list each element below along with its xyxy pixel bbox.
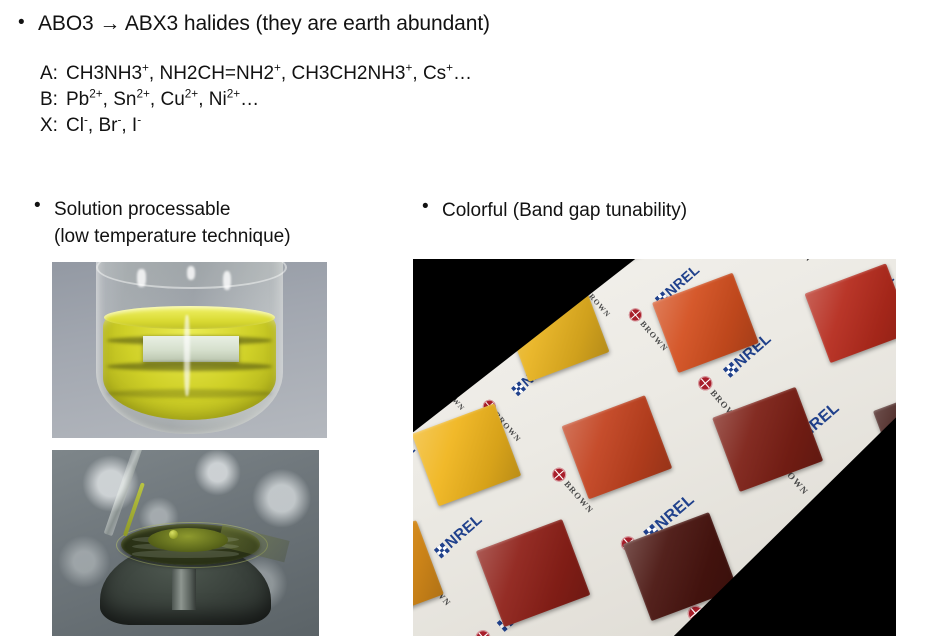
- glass-highlight: [184, 315, 190, 396]
- bullet-icon: •: [422, 197, 442, 216]
- vial-reflection-band: [107, 389, 272, 398]
- ion-b-species-2: Sn: [113, 89, 136, 110]
- nrel-logo-text: NREL: [441, 511, 485, 552]
- chuck-post: [172, 569, 196, 610]
- ion-x-species-1: Cl: [66, 115, 84, 136]
- ion-a-species-4: Cs: [423, 63, 446, 84]
- sample-sheen: [475, 519, 589, 627]
- ion-a-charge-2: +: [274, 62, 281, 75]
- ion-b-ellipsis: …: [240, 89, 259, 110]
- perovskite-film-sample: [413, 520, 444, 625]
- immersed-substrate: [143, 336, 239, 362]
- ion-a-ellipsis: …: [453, 63, 472, 84]
- ion-row-b: B:Pb2+, Sn2+, Cu2+, Ni2+…: [40, 87, 472, 113]
- brown-seal-icon: [549, 465, 569, 485]
- ion-x-sep-1: ,: [88, 115, 99, 136]
- perovskite-film-sample: [804, 263, 896, 364]
- ion-b-charge-3: 2+: [185, 88, 198, 101]
- nrel-flag-icon: [723, 361, 739, 377]
- sample-sheen: [561, 395, 672, 499]
- left-caption: • Solution processable (low temperature …: [34, 196, 291, 250]
- sample-sheen: [711, 387, 822, 492]
- ion-key-a: A:: [40, 61, 66, 87]
- ion-b-sep-3: ,: [198, 89, 209, 110]
- brown-seal-icon: [626, 305, 645, 324]
- glass-highlight: [187, 266, 195, 280]
- sample-sheen: [413, 520, 444, 625]
- ion-a-species-1: CH3NH3: [66, 63, 142, 84]
- ion-a-sep-3: ,: [412, 63, 423, 84]
- left-caption-row: • Solution processable: [34, 196, 291, 223]
- brown-university-logo: BROWN: [769, 259, 815, 265]
- glass-highlight: [137, 269, 145, 287]
- bullet-icon: •: [18, 12, 38, 32]
- sample-sheen: [804, 263, 896, 364]
- brown-logo-text: BROWN: [781, 259, 813, 263]
- perovskite-film-sample: [475, 519, 589, 627]
- brown-university-logo: BROWN: [472, 626, 523, 636]
- ion-b-charge-1: 2+: [89, 88, 102, 101]
- ion-a-sep-1: ,: [149, 63, 160, 84]
- left-caption-line1: Solution processable: [54, 196, 230, 223]
- liquid-meniscus: [104, 306, 275, 329]
- nrel-flag-icon: [433, 542, 449, 558]
- brown-seal-icon: [472, 626, 493, 636]
- ion-a-charge-1: +: [142, 62, 149, 75]
- bullet-icon: •: [34, 196, 54, 215]
- ion-x-charge-3: -: [137, 114, 141, 127]
- ion-key-b: B:: [40, 87, 66, 113]
- glass-highlight: [223, 271, 231, 290]
- ion-x-sep-2: ,: [121, 115, 132, 136]
- ion-a-species-2: NH2CH=NH2: [159, 63, 274, 84]
- ion-composition-list: A:CH3NH3+, NH2CH=NH2+, CH3CH2NH3+, Cs+… …: [40, 61, 472, 139]
- photo-spin-coating-deposition: [52, 450, 319, 636]
- sample-sheen: [651, 272, 758, 373]
- photo-precursor-solution-vial: [52, 262, 327, 438]
- right-caption: • Colorful (Band gap tunability): [422, 197, 687, 224]
- ion-b-charge-4: 2+: [227, 88, 240, 101]
- right-caption-line1: Colorful (Band gap tunability): [442, 197, 687, 224]
- headline-bullet: • ABO3 → ABX3 halides (they are earth ab…: [18, 12, 490, 36]
- perovskite-film-sample: [561, 395, 672, 499]
- ion-b-sep-1: ,: [103, 89, 114, 110]
- left-caption-line2: (low temperature technique): [34, 223, 291, 250]
- ion-b-charge-2: 2+: [136, 88, 149, 101]
- ion-b-species-1: Pb: [66, 89, 89, 110]
- brown-seal-icon: [695, 373, 715, 393]
- ion-row-a: A:CH3NH3+, NH2CH=NH2+, CH3CH2NH3+, Cs+…: [40, 61, 472, 87]
- perovskite-film-sample: [651, 272, 758, 373]
- headline-text: ABO3 → ABX3 halides (they are earth abun…: [38, 12, 490, 36]
- ion-b-species-3: Cu: [160, 89, 184, 110]
- ion-b-species-4: Ni: [209, 89, 227, 110]
- ion-key-x: X:: [40, 113, 66, 139]
- photo-perovskite-color-array: BROWNBROWNBROWNBROWNBROWNBROWNBROWNBROWN…: [413, 259, 896, 636]
- ion-b-sep-2: ,: [150, 89, 161, 110]
- nrel-flag-icon: [511, 381, 526, 396]
- ion-a-sep-2: ,: [281, 63, 292, 84]
- ion-row-x: X:Cl-, Br-, I-: [40, 113, 472, 139]
- ion-a-species-3: CH3CH2NH3: [291, 63, 405, 84]
- ion-x-species-2: Br: [98, 115, 117, 136]
- perovskite-film-sample: [711, 387, 822, 492]
